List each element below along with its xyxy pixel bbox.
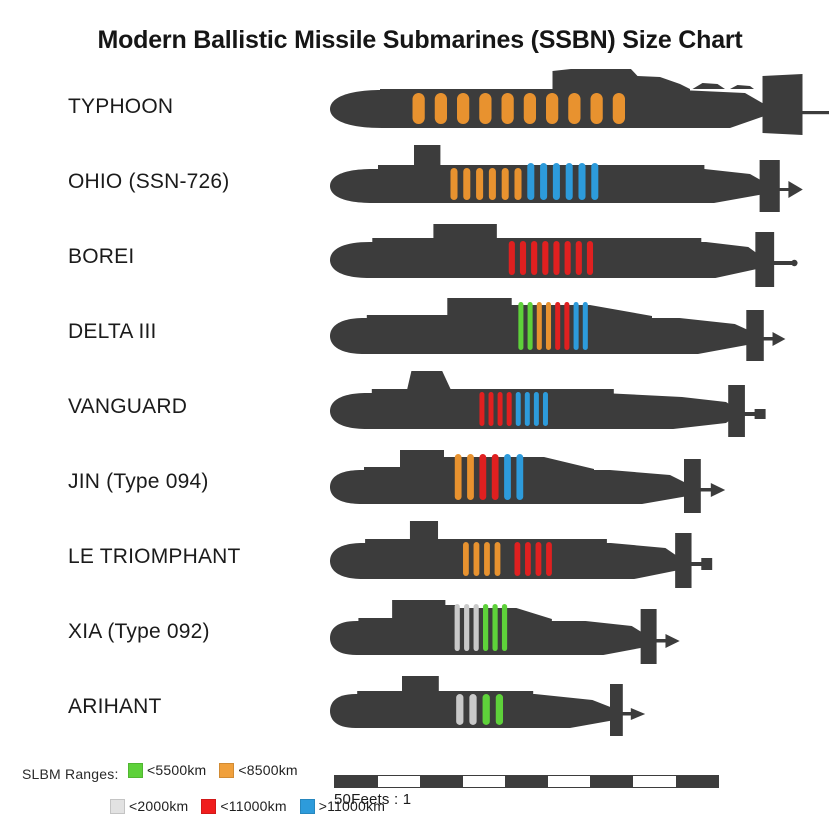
legend-swatch-gray: [110, 799, 125, 814]
submarine-row: ARIHANT: [0, 669, 840, 744]
missile-tube: [492, 454, 499, 500]
missile-tube: [455, 454, 462, 500]
missile-tube: [498, 392, 503, 426]
legend-label-gray: <2000km: [129, 798, 188, 814]
missile-tube: [527, 163, 534, 200]
submarine-label: TYPHOON: [68, 69, 173, 144]
missile-tube: [553, 241, 559, 275]
missile-tube: [542, 241, 548, 275]
scale-segment: [633, 776, 676, 787]
missile-tube: [464, 604, 469, 651]
missile-tube: [474, 542, 480, 576]
submarine-row: VANGUARD: [0, 369, 840, 444]
missile-tube: [435, 93, 447, 124]
missile-tube: [502, 93, 514, 124]
missile-tube: [456, 694, 463, 725]
missile-tube: [565, 241, 571, 275]
missile-tube: [476, 168, 483, 200]
scale-segment: [420, 776, 463, 787]
submarine-row: BOREI: [0, 219, 840, 294]
submarine-silhouette: [330, 144, 810, 219]
missile-tube: [516, 392, 521, 426]
submarine-label: OHIO (SSN-726): [68, 144, 230, 219]
missile-tube: [525, 392, 530, 426]
missile-tube: [479, 392, 484, 426]
missile-tube: [489, 392, 494, 426]
missile-tube: [515, 542, 521, 576]
missile-tube: [469, 694, 476, 725]
missile-tube: [583, 302, 588, 350]
submarine-row: XIA (Type 092): [0, 594, 840, 669]
missile-tube: [587, 241, 593, 275]
missile-tube: [568, 93, 580, 124]
submarine-row: JIN (Type 094): [0, 444, 840, 519]
legend-swatch-blue: [300, 799, 315, 814]
missile-tube: [524, 93, 536, 124]
missile-tube: [479, 454, 486, 500]
submarine-silhouette: [330, 369, 770, 444]
scale-bar: [334, 775, 719, 788]
submarine-silhouette: [330, 669, 650, 744]
missile-tube: [507, 392, 512, 426]
legend-item-green: <5500km: [128, 762, 206, 778]
scale-segment: [676, 776, 719, 787]
legend-row-1: <5500km<8500km: [128, 762, 311, 778]
missile-tube: [489, 168, 496, 200]
missile-tube: [514, 168, 521, 200]
missile-tube: [546, 93, 558, 124]
missile-tube: [455, 604, 460, 651]
missile-tube: [540, 163, 547, 200]
scale-segment: [463, 776, 506, 787]
legend-item-red: <11000km: [201, 798, 286, 814]
legend-label-green: <5500km: [147, 762, 206, 778]
submarine-label: VANGUARD: [68, 369, 187, 444]
missile-tube: [450, 168, 457, 200]
submarine-silhouette: [330, 519, 720, 594]
submarine-silhouette: [330, 594, 685, 669]
submarine-row: TYPHOON: [0, 69, 840, 144]
legend-label-orange: <8500km: [238, 762, 297, 778]
missile-tube: [483, 604, 488, 651]
missile-tube: [528, 302, 533, 350]
missile-tube: [496, 694, 503, 725]
submarine-row: OHIO (SSN-726): [0, 144, 840, 219]
missile-tube: [564, 302, 569, 350]
missile-tube: [484, 542, 490, 576]
missile-tube: [543, 392, 548, 426]
missile-tube: [574, 302, 579, 350]
missile-tube: [483, 694, 490, 725]
scale-caption: 50Feets : 1: [334, 791, 719, 808]
submarine-silhouette: [330, 294, 790, 369]
missile-tube: [467, 454, 474, 500]
missile-tube: [492, 604, 497, 651]
missile-tube: [516, 454, 523, 500]
missile-tube: [555, 302, 560, 350]
missile-tube: [502, 168, 509, 200]
submarine-silhouette: [330, 444, 730, 519]
missile-tube: [537, 302, 542, 350]
scale-segment: [378, 776, 421, 787]
scale-segment: [548, 776, 591, 787]
scale-segment: [335, 776, 378, 787]
missile-tube: [509, 241, 515, 275]
legend-swatch-red: [201, 799, 216, 814]
missile-tube: [591, 163, 598, 200]
submarine-label: ARIHANT: [68, 669, 162, 744]
legend-item-orange: <8500km: [219, 762, 297, 778]
missile-tube: [502, 604, 507, 651]
missile-tube: [463, 542, 469, 576]
missile-tube: [463, 168, 470, 200]
submarine-label: BOREI: [68, 219, 134, 294]
missile-tube: [553, 163, 560, 200]
submarine-label: DELTA III: [68, 294, 157, 369]
legend-swatch-green: [128, 763, 143, 778]
submarine-rows: TYPHOONOHIO (SSN-726)BOREIDELTA IIIVANGU…: [0, 69, 840, 744]
submarine-silhouette: [330, 69, 830, 144]
missile-tube: [566, 163, 573, 200]
missile-tube: [613, 93, 625, 124]
missile-tube: [518, 302, 523, 350]
missile-tube: [525, 542, 531, 576]
missile-tube: [531, 241, 537, 275]
missile-tube: [591, 93, 603, 124]
missile-tube: [578, 163, 585, 200]
missile-tube: [504, 454, 511, 500]
legend-swatch-orange: [219, 763, 234, 778]
legend-label-red: <11000km: [220, 798, 286, 814]
missile-tube: [546, 302, 551, 350]
missile-tube: [474, 604, 479, 651]
legend-item-gray: <2000km: [110, 798, 188, 814]
missile-tube: [536, 542, 542, 576]
submarine-row: LE TRIOMPHANT: [0, 519, 840, 594]
missile-tube: [534, 392, 539, 426]
missile-tube: [576, 241, 582, 275]
scale-segment: [590, 776, 633, 787]
submarine-label: XIA (Type 092): [68, 594, 210, 669]
submarine-row: DELTA III: [0, 294, 840, 369]
legend-title: SLBM Ranges:: [22, 766, 119, 782]
page-title: Modern Ballistic Missile Submarines (SSB…: [0, 0, 840, 55]
submarine-label: LE TRIOMPHANT: [68, 519, 241, 594]
submarine-silhouette: [330, 219, 800, 294]
missile-tube: [520, 241, 526, 275]
submarine-label: JIN (Type 094): [68, 444, 209, 519]
scale-segment: [505, 776, 548, 787]
scale-bar-group: 50Feets : 1: [334, 775, 719, 808]
missile-tube: [495, 542, 501, 576]
missile-tube: [546, 542, 552, 576]
missile-tube: [413, 93, 425, 124]
missile-tube: [457, 93, 469, 124]
missile-tube: [479, 93, 491, 124]
